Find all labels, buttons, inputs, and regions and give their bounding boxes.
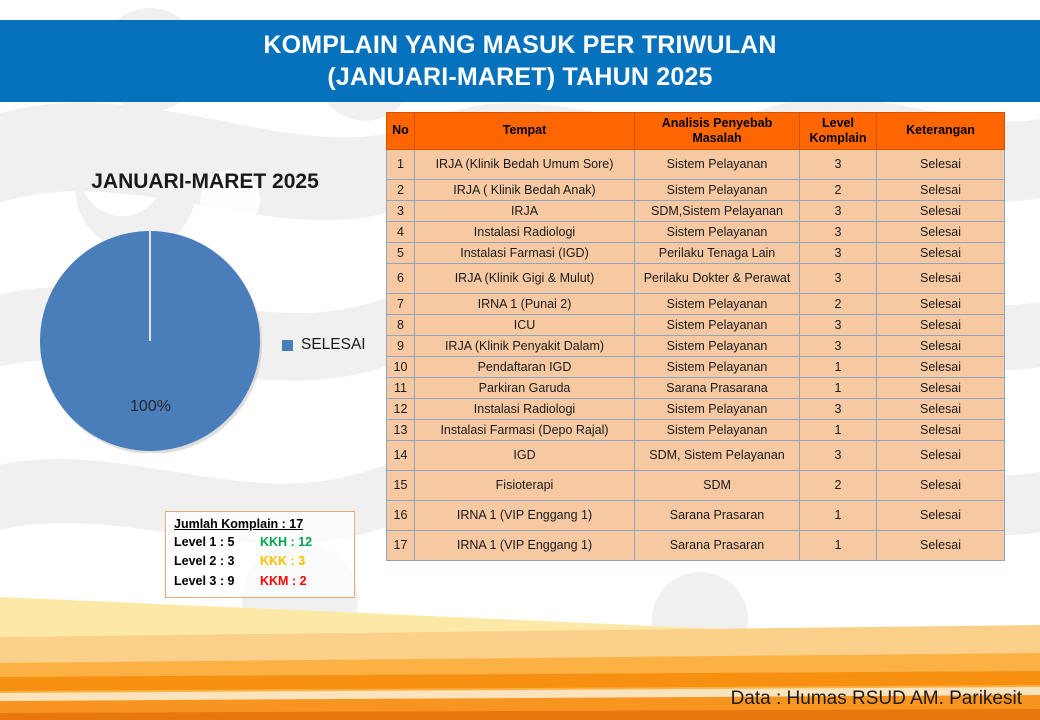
col-header-no: No xyxy=(387,113,415,150)
table-row: 4Instalasi RadiologiSistem Pelayanan3Sel… xyxy=(387,221,1005,242)
legend-swatch-selesai xyxy=(282,340,293,351)
row-cell-analisis: Sarana Prasaran xyxy=(635,500,800,530)
row-cell-no: 7 xyxy=(387,293,415,314)
summary-kk-label: KKH : 12 xyxy=(260,533,312,552)
slide-title-bar: KOMPLAIN YANG MASUK PER TRIWULAN (JANUAR… xyxy=(0,20,1040,102)
row-cell-keterangan: Selesai xyxy=(877,500,1005,530)
page-title: KOMPLAIN YANG MASUK PER TRIWULAN (JANUAR… xyxy=(263,29,776,93)
row-cell-no: 1 xyxy=(387,149,415,179)
row-cell-analisis: SDM xyxy=(635,470,800,500)
row-cell-level: 3 xyxy=(800,221,877,242)
row-cell-no: 9 xyxy=(387,335,415,356)
title-line-2: (JANUARI-MARET) TAHUN 2025 xyxy=(263,61,776,93)
row-cell-level: 3 xyxy=(800,398,877,419)
row-cell-keterangan: Selesai xyxy=(877,530,1005,560)
table-row: 6IRJA (Klinik Gigi & Mulut)Perilaku Dokt… xyxy=(387,263,1005,293)
row-cell-no: 8 xyxy=(387,314,415,335)
row-cell-level: 3 xyxy=(800,242,877,263)
chart-title: JANUARI-MARET 2025 xyxy=(75,170,335,194)
row-cell-level: 1 xyxy=(800,419,877,440)
table-row: 10Pendaftaran IGDSistem Pelayanan1Selesa… xyxy=(387,356,1005,377)
row-cell-keterangan: Selesai xyxy=(877,398,1005,419)
row-cell-no: 4 xyxy=(387,221,415,242)
row-cell-no: 6 xyxy=(387,263,415,293)
data-source-note: Data : Humas RSUD AM. Parikesit xyxy=(731,688,1022,710)
row-cell-analisis: Sistem Pelayanan xyxy=(635,398,800,419)
row-cell-keterangan: Selesai xyxy=(877,242,1005,263)
slide-canvas: KOMPLAIN YANG MASUK PER TRIWULAN (JANUAR… xyxy=(0,0,1040,720)
row-cell-tempat: IRJA (Klinik Penyakit Dalam) xyxy=(415,335,635,356)
row-cell-level: 2 xyxy=(800,470,877,500)
row-cell-keterangan: Selesai xyxy=(877,200,1005,221)
row-cell-analisis: Sistem Pelayanan xyxy=(635,179,800,200)
table-row: 8ICUSistem Pelayanan3Selesai xyxy=(387,314,1005,335)
row-cell-no: 17 xyxy=(387,530,415,560)
row-cell-analisis: Sarana Prasarana xyxy=(635,377,800,398)
row-cell-tempat: Pendaftaran IGD xyxy=(415,356,635,377)
table-row: 7IRNA 1 (Punai 2)Sistem Pelayanan2Selesa… xyxy=(387,293,1005,314)
row-cell-tempat: IGD xyxy=(415,440,635,470)
row-cell-no: 14 xyxy=(387,440,415,470)
row-cell-level: 3 xyxy=(800,263,877,293)
summary-row: Level 1 : 5KKH : 12 xyxy=(174,533,346,552)
summary-level-label: Level 2 : 3 xyxy=(174,552,260,571)
table-row: 2IRJA ( Klinik Bedah Anak)Sistem Pelayan… xyxy=(387,179,1005,200)
row-cell-tempat: IRJA (Klinik Gigi & Mulut) xyxy=(415,263,635,293)
row-cell-no: 16 xyxy=(387,500,415,530)
row-cell-analisis: Sarana Prasaran xyxy=(635,530,800,560)
col-header-analisis: Analisis Penyebab Masalah xyxy=(635,113,800,150)
table-row: 12Instalasi RadiologiSistem Pelayanan3Se… xyxy=(387,398,1005,419)
row-cell-keterangan: Selesai xyxy=(877,419,1005,440)
table-row: 1IRJA (Klinik Bedah Umum Sore)Sistem Pel… xyxy=(387,149,1005,179)
row-cell-keterangan: Selesai xyxy=(877,221,1005,242)
table-row: 9IRJA (Klinik Penyakit Dalam)Sistem Pela… xyxy=(387,335,1005,356)
row-cell-analisis: Sistem Pelayanan xyxy=(635,293,800,314)
row-cell-level: 3 xyxy=(800,200,877,221)
row-cell-level: 3 xyxy=(800,314,877,335)
row-cell-tempat: IRNA 1 (VIP Enggang 1) xyxy=(415,500,635,530)
chart-legend: SELESAI xyxy=(282,336,366,354)
row-cell-keterangan: Selesai xyxy=(877,149,1005,179)
row-cell-level: 1 xyxy=(800,356,877,377)
pie-chart xyxy=(38,228,263,453)
row-cell-analisis: Sistem Pelayanan xyxy=(635,221,800,242)
table-row: 13Instalasi Farmasi (Depo Rajal)Sistem P… xyxy=(387,419,1005,440)
row-cell-tempat: Instalasi Radiologi xyxy=(415,221,635,242)
row-cell-tempat: Instalasi Farmasi (Depo Rajal) xyxy=(415,419,635,440)
row-cell-analisis: Perilaku Tenaga Lain xyxy=(635,242,800,263)
summary-row: Level 2 : 3KKK : 3 xyxy=(174,552,346,571)
row-cell-level: 2 xyxy=(800,179,877,200)
title-line-1: KOMPLAIN YANG MASUK PER TRIWULAN xyxy=(263,29,776,61)
row-cell-keterangan: Selesai xyxy=(877,179,1005,200)
row-cell-keterangan: Selesai xyxy=(877,335,1005,356)
row-cell-analisis: SDM,Sistem Pelayanan xyxy=(635,200,800,221)
row-cell-keterangan: Selesai xyxy=(877,314,1005,335)
row-cell-level: 3 xyxy=(800,149,877,179)
legend-label-selesai: SELESAI xyxy=(301,336,366,354)
summary-rows: Level 1 : 5KKH : 12Level 2 : 3KKK : 3Lev… xyxy=(174,533,346,591)
row-cell-level: 2 xyxy=(800,293,877,314)
summary-kk-label: KKK : 3 xyxy=(260,552,305,571)
summary-level-label: Level 1 : 5 xyxy=(174,533,260,552)
row-cell-tempat: IRNA 1 (Punai 2) xyxy=(415,293,635,314)
table-row: 17IRNA 1 (VIP Enggang 1)Sarana Prasaran1… xyxy=(387,530,1005,560)
complaints-table-wrapper: No Tempat Analisis Penyebab Masalah Leve… xyxy=(386,112,1005,561)
table-row: 5Instalasi Farmasi (IGD)Perilaku Tenaga … xyxy=(387,242,1005,263)
row-cell-analisis: Sistem Pelayanan xyxy=(635,419,800,440)
row-cell-keterangan: Selesai xyxy=(877,293,1005,314)
row-cell-level: 1 xyxy=(800,500,877,530)
row-cell-level: 1 xyxy=(800,530,877,560)
row-cell-analisis: Sistem Pelayanan xyxy=(635,335,800,356)
col-header-level: Level Komplain xyxy=(800,113,877,150)
row-cell-keterangan: Selesai xyxy=(877,356,1005,377)
row-cell-keterangan: Selesai xyxy=(877,263,1005,293)
row-cell-no: 5 xyxy=(387,242,415,263)
row-cell-analisis: Sistem Pelayanan xyxy=(635,149,800,179)
row-cell-no: 3 xyxy=(387,200,415,221)
row-cell-no: 12 xyxy=(387,398,415,419)
table-row: 15FisioterapiSDM2Selesai xyxy=(387,470,1005,500)
row-cell-keterangan: Selesai xyxy=(877,440,1005,470)
table-body: 1IRJA (Klinik Bedah Umum Sore)Sistem Pel… xyxy=(387,149,1005,560)
pie-slice-label: 100% xyxy=(38,398,263,416)
summary-heading: Jumlah Komplain : 17 xyxy=(174,517,346,531)
col-header-keterangan: Keterangan xyxy=(877,113,1005,150)
row-cell-analisis: SDM, Sistem Pelayanan xyxy=(635,440,800,470)
row-cell-tempat: IRJA (Klinik Bedah Umum Sore) xyxy=(415,149,635,179)
table-row: 3IRJASDM,Sistem Pelayanan3Selesai xyxy=(387,200,1005,221)
row-cell-level: 1 xyxy=(800,377,877,398)
row-cell-analisis: Sistem Pelayanan xyxy=(635,356,800,377)
row-cell-tempat: Instalasi Farmasi (IGD) xyxy=(415,242,635,263)
row-cell-no: 13 xyxy=(387,419,415,440)
table-row: 16IRNA 1 (VIP Enggang 1)Sarana Prasaran1… xyxy=(387,500,1005,530)
row-cell-analisis: Sistem Pelayanan xyxy=(635,314,800,335)
row-cell-analisis: Perilaku Dokter & Perawat xyxy=(635,263,800,293)
row-cell-keterangan: Selesai xyxy=(877,377,1005,398)
row-cell-level: 3 xyxy=(800,335,877,356)
row-cell-tempat: Fisioterapi xyxy=(415,470,635,500)
row-cell-tempat: IRNA 1 (VIP Enggang 1) xyxy=(415,530,635,560)
row-cell-tempat: IRJA ( Klinik Bedah Anak) xyxy=(415,179,635,200)
row-cell-no: 15 xyxy=(387,470,415,500)
table-row: 14IGDSDM, Sistem Pelayanan3Selesai xyxy=(387,440,1005,470)
table-row: 11Parkiran GarudaSarana Prasarana1Selesa… xyxy=(387,377,1005,398)
row-cell-tempat: Parkiran Garuda xyxy=(415,377,635,398)
row-cell-keterangan: Selesai xyxy=(877,470,1005,500)
col-header-tempat: Tempat xyxy=(415,113,635,150)
row-cell-tempat: Instalasi Radiologi xyxy=(415,398,635,419)
row-cell-no: 2 xyxy=(387,179,415,200)
table-header-row: No Tempat Analisis Penyebab Masalah Leve… xyxy=(387,113,1005,150)
row-cell-tempat: ICU xyxy=(415,314,635,335)
row-cell-tempat: IRJA xyxy=(415,200,635,221)
row-cell-no: 11 xyxy=(387,377,415,398)
complaints-table: No Tempat Analisis Penyebab Masalah Leve… xyxy=(386,112,1005,561)
row-cell-level: 3 xyxy=(800,440,877,470)
row-cell-no: 10 xyxy=(387,356,415,377)
